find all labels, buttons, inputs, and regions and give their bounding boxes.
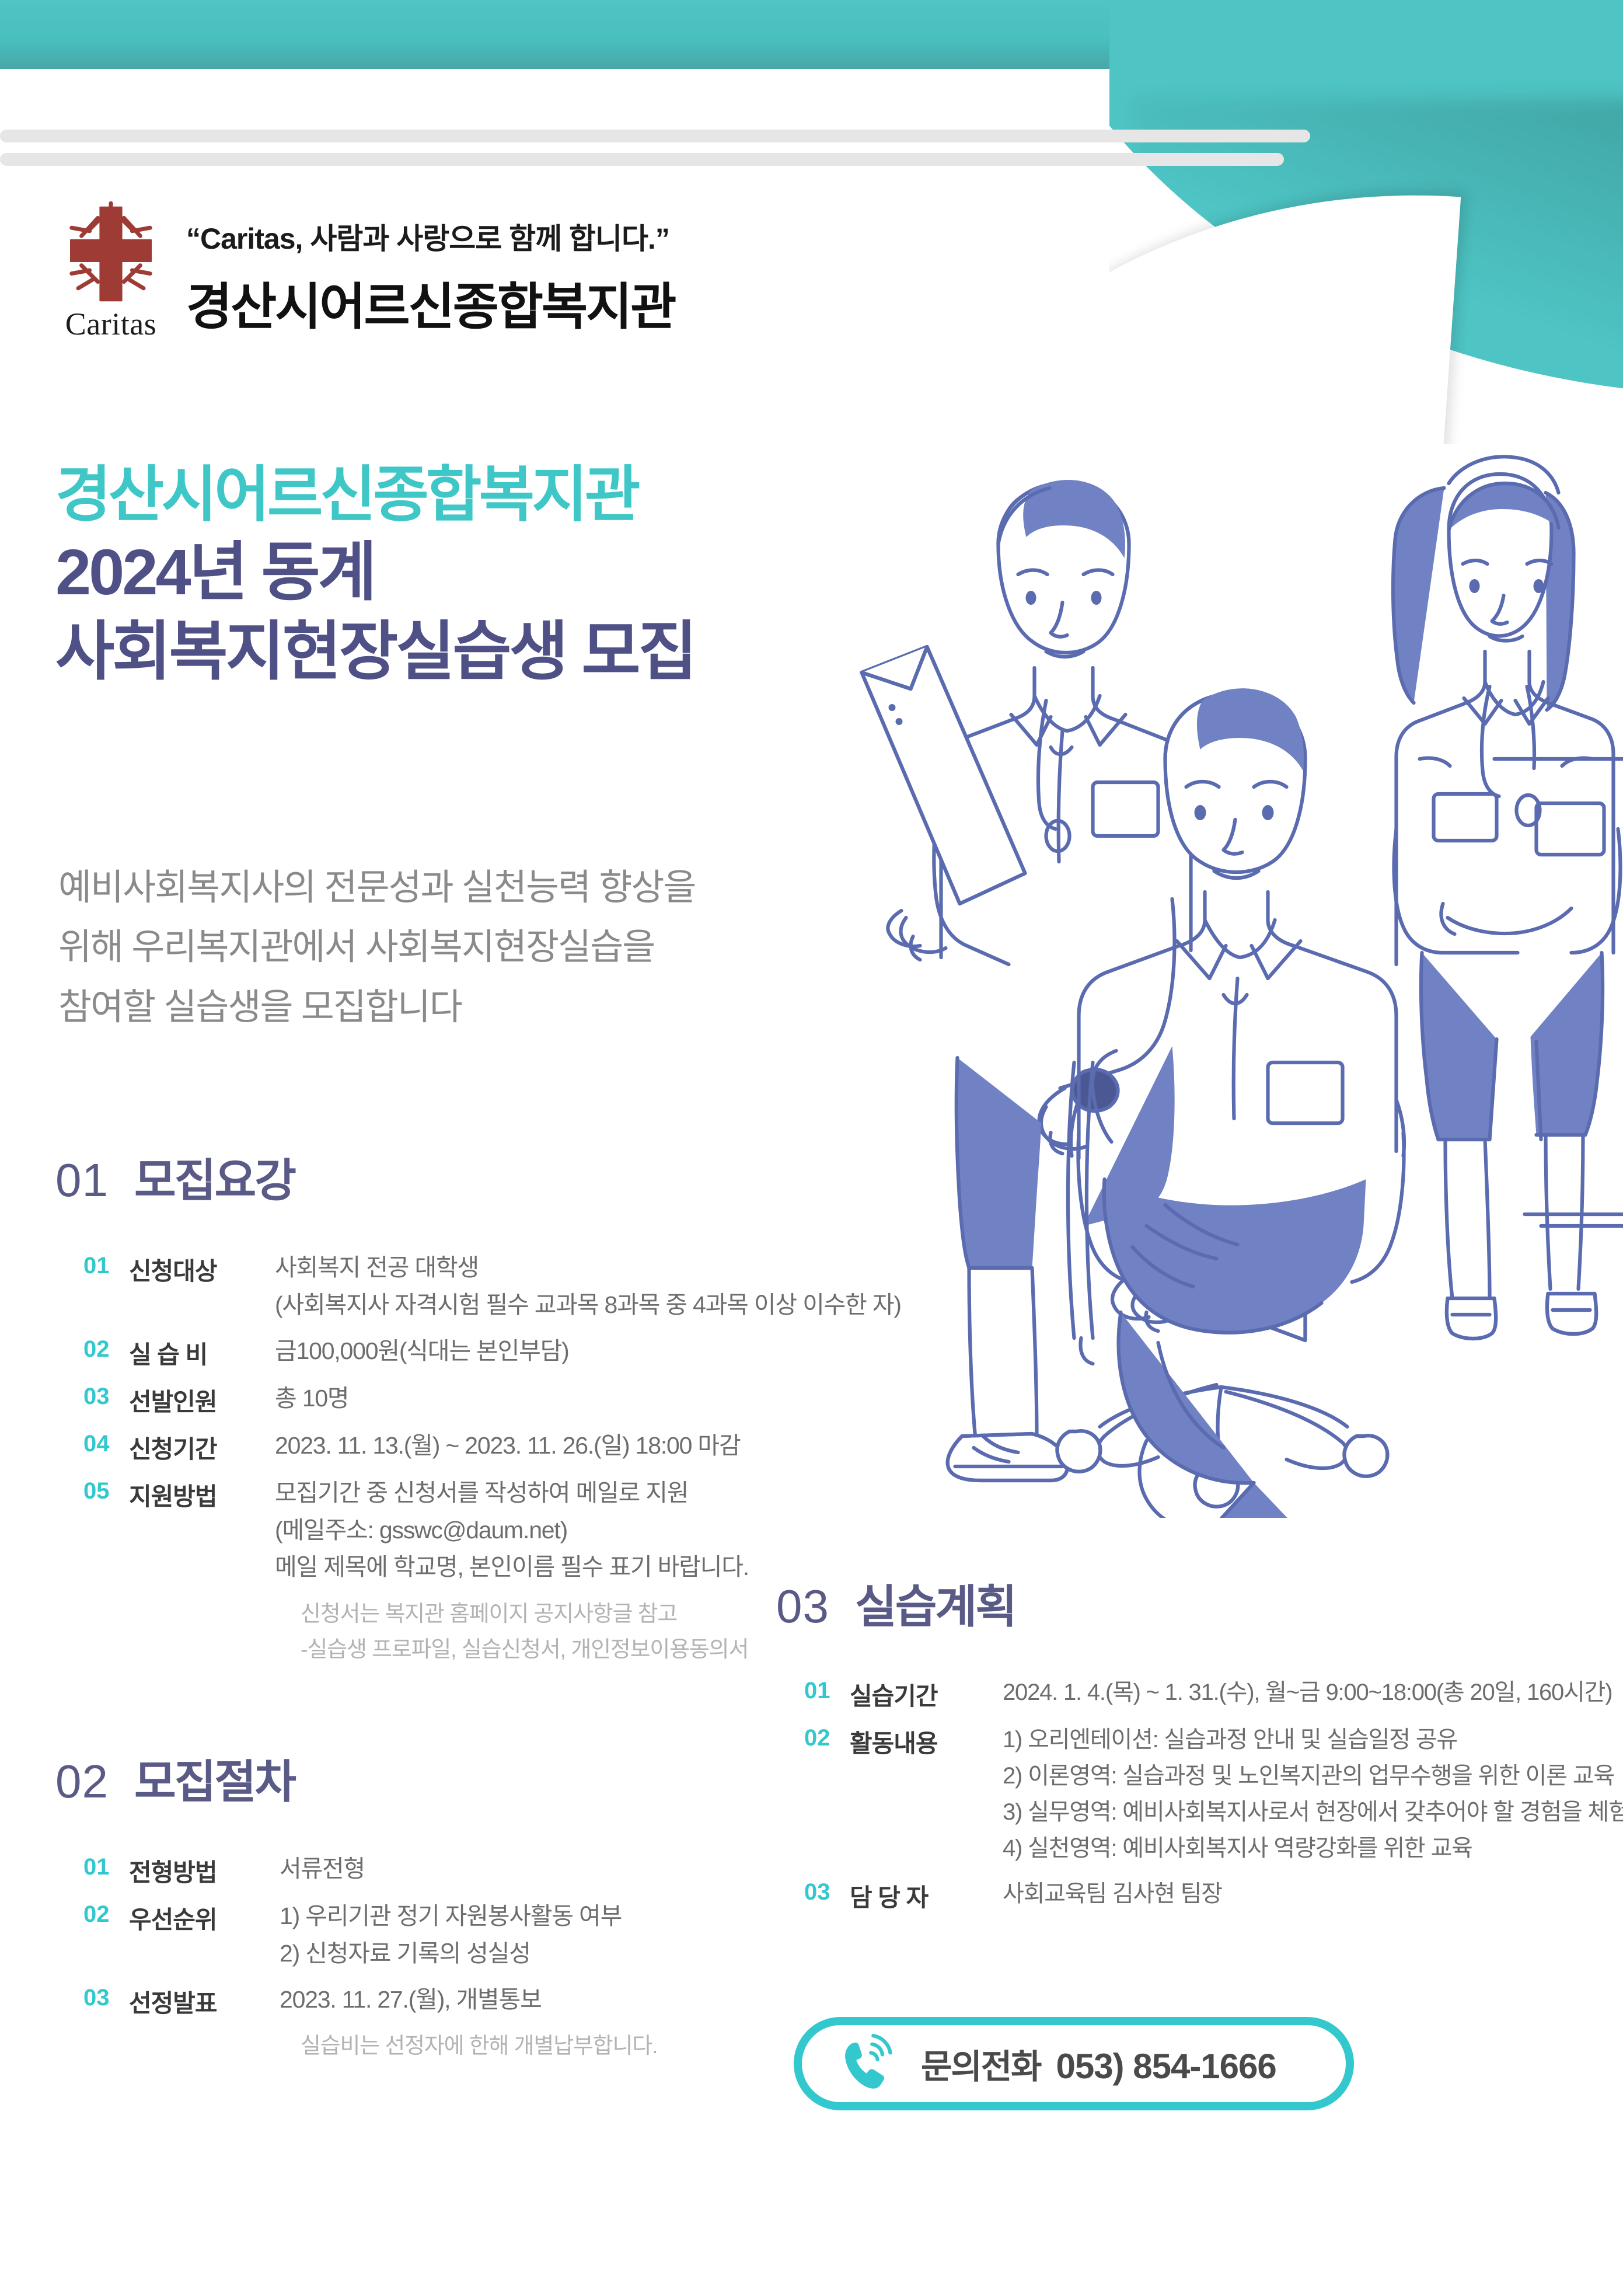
item-body: 2023. 11. 27.(월), 개별통보 (280, 1981, 814, 2019)
item-line: 총 10명 (275, 1380, 908, 1417)
item-body: 모집기간 중 신청서를 작성하여 메일로 지원 (메일주소: gsswc@dau… (275, 1475, 908, 1586)
item-line: 2023. 11. 13.(월) ~ 2023. 11. 26.(일) 18:0… (275, 1427, 908, 1465)
item-number: 03 (83, 1380, 129, 1410)
poster-headline: 경산시어르신종합복지관 2024년 동계 사회복지현장실습생 모집 (55, 461, 695, 690)
item-number: 02 (83, 1898, 129, 1928)
item-label: 활동내용 (850, 1722, 1003, 1760)
section-3-number: 03 (776, 1580, 829, 1633)
item-label: 선정발표 (129, 1981, 280, 2019)
list-item: 02 실 습 비 금100,000원(식대는 본인부담) (83, 1333, 908, 1371)
contact-phone-text: 문의전화 053) 854-1666 (921, 2039, 1276, 2088)
contact-phone-label: 문의전화 (921, 2039, 1041, 2088)
section-3-title: 실습계획 (855, 1570, 1015, 1636)
item-number: 01 (83, 1249, 129, 1279)
lead-line-2: 위해 우리복지관에서 사회복지현장실습을 (58, 918, 695, 977)
section-2-number: 02 (55, 1755, 109, 1809)
section-recruitment-process: 02 모집절차 01 전형방법 서류전형 02 우선순위 1) 우리기관 정기 … (55, 1745, 814, 2064)
item-label: 우선순위 (129, 1898, 280, 1936)
item-label: 신청기간 (129, 1427, 275, 1465)
item-line: 3) 실무영역: 예비사회복지사로서 현장에서 갖추어야 할 경험을 체험 (1003, 1794, 1623, 1830)
item-number: 01 (804, 1674, 850, 1704)
list-item: 03 담 당 자 사회교육팀 김사현 팀장 (804, 1876, 1593, 1914)
item-label: 전형방법 (129, 1851, 280, 1889)
logo-slogan: “Caritas, 사람과 사랑으로 함께 합니다.” (186, 215, 675, 257)
item-label: 신청대상 (129, 1249, 275, 1287)
list-item: 03 선정발표 2023. 11. 27.(월), 개별통보 (83, 1981, 814, 2019)
item-line: (사회복지사 자격시험 필수 교과목 8과목 중 4과목 이상 이수한 자) (275, 1287, 908, 1324)
item-body: 금100,000원(식대는 본인부담) (275, 1333, 908, 1370)
list-item: 02 활동내용 1) 오리엔테이션: 실습과정 안내 및 실습일정 공유 2) … (804, 1722, 1593, 1866)
item-number: 04 (83, 1427, 129, 1457)
list-item: 04 신청기간 2023. 11. 13.(월) ~ 2023. 11. 26.… (83, 1427, 908, 1465)
page-curl-white-wedge (1109, 0, 1623, 444)
item-line: 1) 우리기관 정기 자원봉사활동 여부 (280, 1898, 814, 1935)
section-2-heading: 02 모집절차 (55, 1745, 814, 1811)
item-line: 금100,000원(식대는 본인부담) (275, 1333, 908, 1370)
item-line: (메일주소: gsswc@daum.net) (275, 1512, 908, 1549)
item-body: 1) 오리엔테이션: 실습과정 안내 및 실습일정 공유 2) 이론영역: 실습… (1003, 1722, 1623, 1866)
contact-phone-button[interactable]: 문의전화 053) 854-1666 (794, 2017, 1354, 2110)
list-item: 01 신청대상 사회복지 전공 대학생 (사회복지사 자격시험 필수 교과목 8… (83, 1249, 908, 1323)
section-1-heading: 01 모집요강 (55, 1144, 908, 1210)
list-item: 01 전형방법 서류전형 (83, 1851, 814, 1889)
item-number: 01 (83, 1851, 129, 1880)
caritas-wordmark: Caritas (65, 306, 156, 342)
list-item: 05 지원방법 모집기간 중 신청서를 작성하여 메일로 지원 (메일주소: g… (83, 1475, 908, 1586)
item-line: 서류전형 (280, 1851, 814, 1888)
item-body: 2023. 11. 13.(월) ~ 2023. 11. 26.(일) 18:0… (275, 1427, 908, 1465)
item-line: 사회복지 전공 대학생 (275, 1249, 908, 1287)
section-practicum-plan: 03 실습계획 01 실습기간 2024. 1. 4.(목) ~ 1. 31.(… (776, 1570, 1593, 1923)
list-item: 02 우선순위 1) 우리기관 정기 자원봉사활동 여부 2) 신청자료 기록의… (83, 1898, 814, 1972)
item-number: 02 (804, 1722, 850, 1751)
phone-ringing-icon (838, 2033, 899, 2094)
item-line: 4) 실천영역: 예비사회복지사 역량강화를 위한 교육 (1003, 1830, 1623, 1866)
item-label: 지원방법 (129, 1475, 275, 1513)
item-number: 05 (83, 1475, 129, 1504)
item-body: 사회복지 전공 대학생 (사회복지사 자격시험 필수 교과목 8과목 중 4과목… (275, 1249, 908, 1323)
item-line: 2023. 11. 27.(월), 개별통보 (280, 1981, 814, 2019)
lead-line-1: 예비사회복지사의 전문성과 실천능력 향상을 (58, 858, 695, 918)
item-label: 실 습 비 (129, 1333, 275, 1371)
section-3-heading: 03 실습계획 (776, 1570, 1593, 1636)
item-label: 담 당 자 (850, 1876, 1003, 1914)
organization-name: 경산시어르신종합복지관 (186, 266, 675, 339)
item-body: 사회교육팀 김사현 팀장 (1003, 1876, 1593, 1912)
poster-canvas: Caritas “Caritas, 사람과 사랑으로 함께 합니다.” 경산시어… (0, 0, 1623, 2296)
three-social-workers-illustration (840, 409, 1623, 1518)
contact-phone-number: 053) 854-1666 (1056, 2046, 1276, 2086)
item-label: 실습기간 (850, 1674, 1003, 1712)
item-number: 03 (83, 1981, 129, 2011)
section-1-title: 모집요강 (134, 1144, 295, 1210)
item-line: 2) 이론영역: 실습과정 및 노인복지관의 업무수행을 위한 이론 교육 (1003, 1758, 1623, 1794)
item-body: 1) 우리기관 정기 자원봉사활동 여부 2) 신청자료 기록의 성실성 (280, 1898, 814, 1972)
item-number: 03 (804, 1876, 850, 1905)
headline-line-2: 2024년 동계 (55, 535, 695, 611)
organization-logo-header: Caritas “Caritas, 사람과 사랑으로 함께 합니다.” 경산시어… (55, 198, 675, 342)
item-number: 02 (83, 1333, 129, 1363)
headline-line-1: 경산시어르신종합복지관 (55, 461, 695, 529)
item-body: 2024. 1. 4.(목) ~ 1. 31.(수), 월~금 9:00~18:… (1003, 1674, 1612, 1710)
section-1-number: 01 (55, 1154, 109, 1207)
list-item: 01 실습기간 2024. 1. 4.(목) ~ 1. 31.(수), 월~금 … (804, 1674, 1593, 1712)
list-item: 03 선발인원 총 10명 (83, 1380, 908, 1418)
item-body: 서류전형 (280, 1851, 814, 1888)
item-line: 2) 신청자료 기록의 성실성 (280, 1935, 814, 1973)
item-label: 선발인원 (129, 1380, 275, 1418)
item-body: 총 10명 (275, 1380, 908, 1417)
header-divider-line-2 (0, 153, 1284, 166)
lead-paragraph: 예비사회복지사의 전문성과 실천능력 향상을 위해 우리복지관에서 사회복지현장… (58, 858, 695, 1037)
footnote-line: 실습비는 선정자에 한해 개별납부합니다. (301, 2029, 814, 2064)
headline-line-3: 사회복지현장실습생 모집 (55, 614, 695, 690)
section-2-footnote: 실습비는 선정자에 한해 개별납부합니다. (301, 2029, 814, 2064)
lead-line-3: 참여할 실습생을 모집합니다 (58, 978, 695, 1037)
section-2-title: 모집절차 (134, 1745, 295, 1811)
header-divider-line-1 (0, 130, 1310, 142)
item-line: 2024. 1. 4.(목) ~ 1. 31.(수), 월~금 9:00~18:… (1003, 1674, 1612, 1710)
item-line: 사회교육팀 김사현 팀장 (1003, 1876, 1593, 1912)
item-line: 1) 오리엔테이션: 실습과정 안내 및 실습일정 공유 (1003, 1722, 1623, 1758)
item-line: 모집기간 중 신청서를 작성하여 메일로 지원 (275, 1475, 908, 1512)
caritas-cross-logo: Caritas (55, 198, 166, 342)
